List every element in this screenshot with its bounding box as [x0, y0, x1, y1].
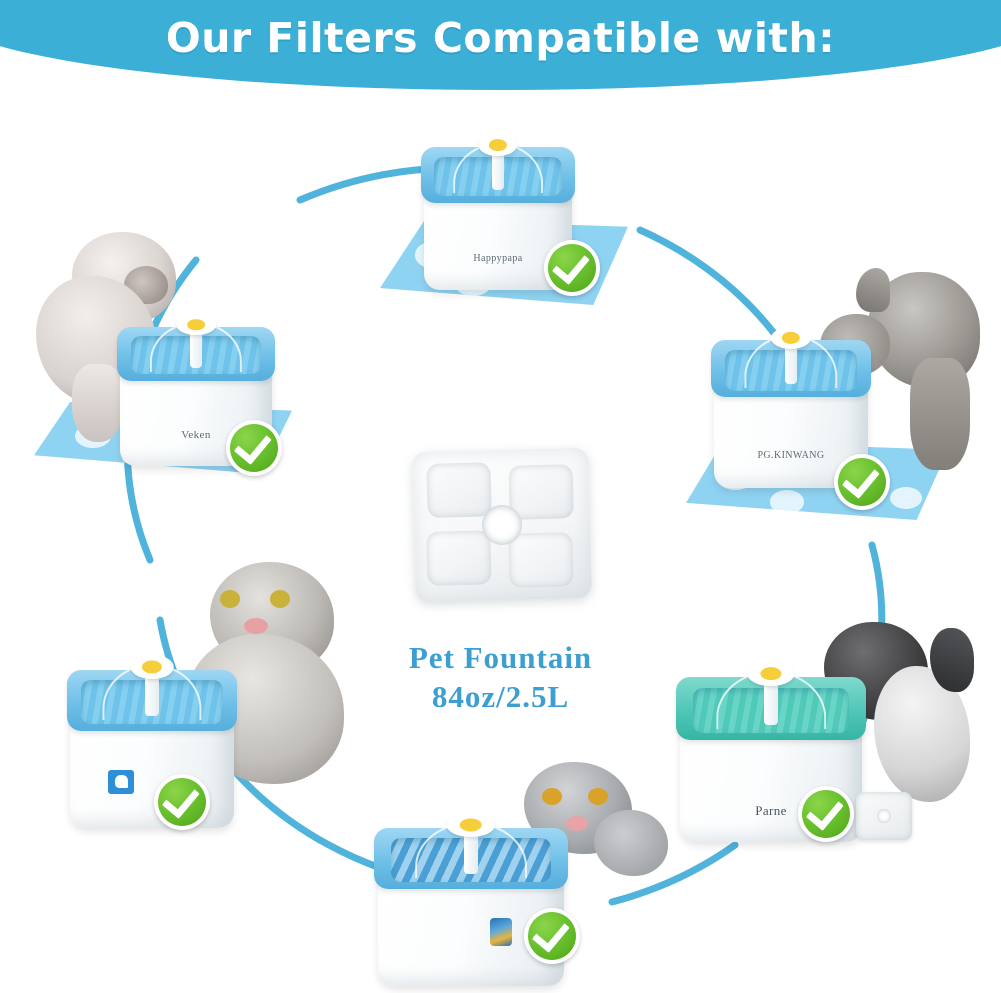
- infographic-canvas: Our Filters Compatible with: Happyp: [0, 0, 1001, 993]
- brand-sticker-icon: [490, 918, 512, 946]
- filter-pad-bottom-left: [426, 530, 491, 586]
- status-badge-compatible: [544, 240, 600, 296]
- filter-pad-top-right: [508, 464, 573, 520]
- status-badge-compatible: [834, 454, 890, 510]
- product-pgkinwang[interactable]: PG.KINWANG: [686, 262, 986, 532]
- status-badge-compatible: [154, 774, 210, 830]
- flower-cap-icon: [176, 314, 216, 335]
- status-badge-compatible: [798, 786, 854, 842]
- check-icon: [841, 460, 879, 499]
- product-sticker-brand[interactable]: [372, 758, 662, 988]
- check-icon: [161, 780, 199, 819]
- check-icon: [233, 426, 271, 465]
- product-veken[interactable]: Veken: [28, 232, 318, 482]
- check-icon: [551, 246, 589, 285]
- replacement-filter-pad: [856, 792, 912, 840]
- center-caption-line2: 84oz/2.5L: [0, 679, 1001, 715]
- check-icon: [805, 792, 843, 831]
- flower-cap-icon: [771, 327, 811, 349]
- status-badge-compatible: [226, 420, 282, 476]
- filter-pad-top-left: [426, 462, 491, 518]
- status-badge-compatible: [524, 908, 580, 964]
- check-icon: [531, 914, 569, 953]
- product-happypapa[interactable]: Happypapa: [372, 128, 642, 313]
- fountain-body: [70, 716, 234, 828]
- center-caption-line1: Pet Fountain: [0, 640, 1001, 676]
- center-filter-product: [412, 448, 592, 603]
- filter-pad-bottom-right: [508, 532, 573, 588]
- brand-logo-icon: [108, 770, 134, 794]
